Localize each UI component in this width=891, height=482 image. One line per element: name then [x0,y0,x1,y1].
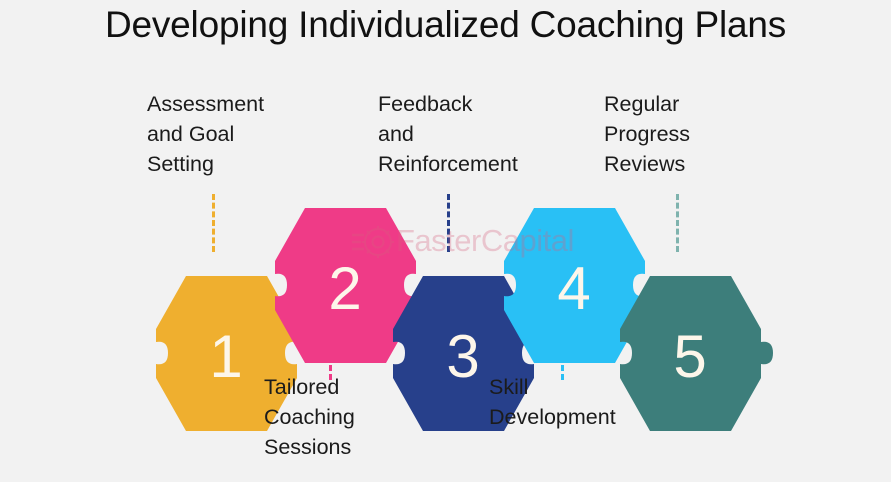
page-title: Developing Individualized Coaching Plans [0,2,891,48]
step-label-4: Skill Development [489,372,649,465]
connector-line-step-5 [676,194,679,252]
step-label-5: Regular Progress Reviews [604,89,754,179]
hexagon-number-1: 1 [209,323,242,390]
step-label-3: Feedback and Reinforcement [378,89,523,182]
hexagon-number-2: 2 [328,255,361,322]
connector-line-step-3 [447,194,450,252]
step-label-2: Tailored Coaching Sessions [264,372,414,462]
infographic-canvas: Developing Individualized Coaching Plans… [0,0,891,482]
hexagon-number-5: 5 [673,323,706,390]
hexagon-number-4: 4 [557,255,590,322]
connector-line-step-1 [212,194,215,252]
hexagon-number-3: 3 [446,323,479,390]
step-label-1: Assessment and Goal Setting [147,89,297,179]
